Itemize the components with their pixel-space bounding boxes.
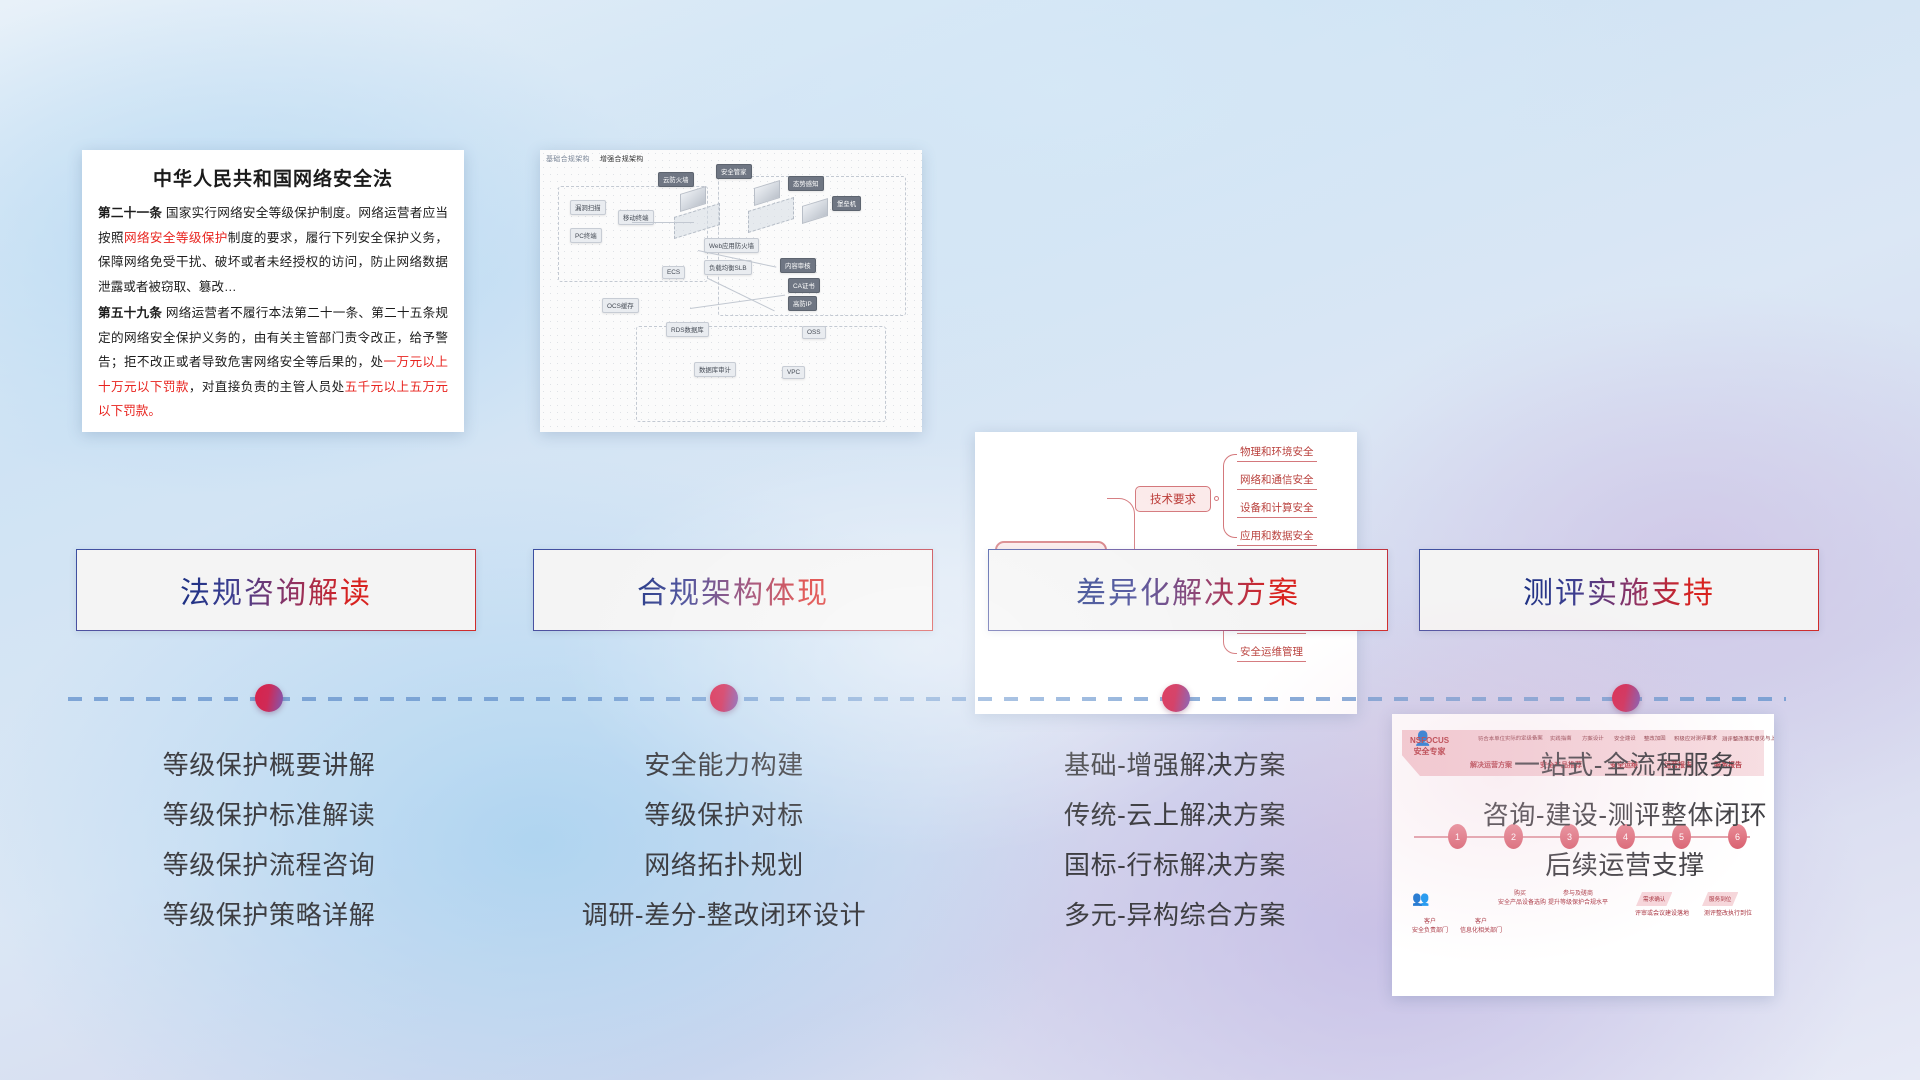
architecture-node-4: 内容审核 [780, 258, 816, 273]
section-title-box-2[interactable]: 合规架构体现 [533, 549, 933, 631]
service-list-row: 等级保护概要讲解 等级保护标准解读 等级保护流程咨询 等级保护策略详解 安全能力… [0, 740, 1920, 970]
mindmap-connector-tech [1223, 454, 1237, 538]
architecture-tabbar: 基础合规架构增强合规架构 [546, 154, 654, 164]
mindmap-dot-tech [1214, 496, 1219, 501]
card-cybersecurity-law: 中华人民共和国网络安全法 第二十一条 国家实行网络安全等级保护制度。网络运营者应… [82, 150, 464, 432]
list-item: 基础-增强解决方案 [975, 740, 1375, 790]
architecture-node-1: 安全管家 [716, 164, 752, 179]
list-item: 安全能力构建 [524, 740, 924, 790]
law-article-59-mid: ，对直接负责的主管人员处 [189, 380, 345, 394]
section-title-2: 合规架构体现 [637, 568, 829, 612]
architecture-node-14: 数据库审计 [694, 362, 736, 377]
law-article-59-label: 第五十九条 [98, 306, 162, 320]
list-item: 等级保护概要讲解 [69, 740, 469, 790]
card-compliance-architecture: 基础合规架构增强合规架构 云防火墙 安全管家 态势感知 堡垒机 内容审核 CA证… [540, 150, 922, 432]
mindmap-leaf-tech-3: 应用和数据安全 [1237, 528, 1317, 546]
section-title-1: 法规咨询解读 [180, 568, 372, 612]
mindmap-leaf-tech-0: 物理和环境安全 [1237, 444, 1317, 462]
architecture-node-15: 漏洞扫描 [570, 200, 606, 215]
list-item: 咨询-建设-测评整体闭环 [1425, 790, 1825, 840]
list-item: 等级保护对标 [524, 790, 924, 840]
architecture-node-8: 负载均衡SLB [704, 260, 752, 275]
service-list-column-3: 基础-增强解决方案 传统-云上解决方案 国标-行标解决方案 多元-异构综合方案 [975, 740, 1375, 940]
section-title-row: 法规咨询解读 合规架构体现 差异化解决方案 测评实施支持 [0, 549, 1920, 637]
timeline-dot-1[interactable] [255, 684, 283, 712]
list-item: 等级保护标准解读 [69, 790, 469, 840]
list-item: 国标-行标解决方案 [975, 840, 1375, 890]
mindmap-leaf-mgmt-3: 安全运维管理 [1237, 644, 1306, 662]
list-item: 一站式-全流程服务 [1425, 740, 1825, 790]
architecture-node-5: CA证书 [788, 278, 820, 293]
mindmap-branch-technical: 技术要求 [1135, 486, 1211, 512]
architecture-node-2: 态势感知 [788, 176, 824, 191]
architecture-node-16: PC终端 [570, 228, 602, 243]
timeline-dashed-line [68, 697, 1786, 701]
architecture-node-3: 堡垒机 [832, 196, 861, 211]
law-article-59: 第五十九条 网络运营者不履行本法第二十一条、第二十五条规定的网络安全保护义务的，… [98, 301, 448, 424]
law-article-21: 第二十一条 国家实行网络安全等级保护制度。网络运营者应当按照网络安全等级保护制度… [98, 201, 448, 299]
service-list-column-2: 安全能力构建 等级保护对标 网络拓扑规划 调研-差分-整改闭环设计 [524, 740, 924, 940]
architecture-tab-basic: 基础合规架构 [546, 156, 590, 163]
architecture-link-1 [632, 222, 694, 223]
architecture-node-11: VPC [782, 366, 805, 379]
architecture-tab-enhanced: 增强合规架构 [600, 156, 644, 163]
infographic-canvas: 中华人民共和国网络安全法 第二十一条 国家实行网络安全等级保护制度。网络运营者应… [0, 0, 1920, 1080]
section-title-box-1[interactable]: 法规咨询解读 [76, 549, 476, 631]
architecture-node-9: ECS [662, 266, 685, 279]
architecture-node-6: 高防IP [788, 296, 817, 311]
service-list-column-1: 等级保护概要讲解 等级保护标准解读 等级保护流程咨询 等级保护策略详解 [69, 740, 469, 940]
mindmap-leaf-tech-2: 设备和计算安全 [1237, 500, 1317, 518]
list-item: 多元-异构综合方案 [975, 890, 1375, 940]
architecture-region-bottom [636, 326, 886, 422]
list-item: 传统-云上解决方案 [975, 790, 1375, 840]
law-article-21-highlight: 网络安全等级保护 [124, 231, 228, 245]
timeline-dot-4[interactable] [1612, 684, 1640, 712]
section-title-box-3[interactable]: 差异化解决方案 [988, 549, 1388, 631]
architecture-node-0: 云防火墙 [658, 172, 694, 187]
service-list-column-4: 一站式-全流程服务 咨询-建设-测评整体闭环 后续运营支撑 [1425, 740, 1825, 890]
architecture-node-12: RDS数据库 [666, 322, 709, 337]
list-item: 网络拓扑规划 [524, 840, 924, 890]
screenshot-card-row: 中华人民共和国网络安全法 第二十一条 国家实行网络安全等级保护制度。网络运营者应… [0, 150, 1920, 450]
architecture-node-7: Web应用防火墙 [704, 238, 759, 253]
section-title-3: 差异化解决方案 [1076, 568, 1300, 612]
timeline-dot-3[interactable] [1162, 684, 1190, 712]
law-title: 中华人民共和国网络安全法 [98, 164, 448, 191]
architecture-node-13: OCS缓存 [602, 298, 639, 313]
list-item: 后续运营支撑 [1425, 840, 1825, 890]
mindmap-leaf-tech-1: 网络和通信安全 [1237, 472, 1317, 490]
timeline-dot-2[interactable] [710, 684, 738, 712]
section-title-4: 测评实施支持 [1523, 568, 1715, 612]
section-title-box-4[interactable]: 测评实施支持 [1419, 549, 1819, 631]
list-item: 等级保护策略详解 [69, 890, 469, 940]
list-item: 等级保护流程咨询 [69, 840, 469, 890]
list-item: 调研-差分-整改闭环设计 [524, 890, 924, 940]
law-article-21-label: 第二十一条 [98, 206, 162, 220]
architecture-node-10: OSS [802, 326, 826, 339]
